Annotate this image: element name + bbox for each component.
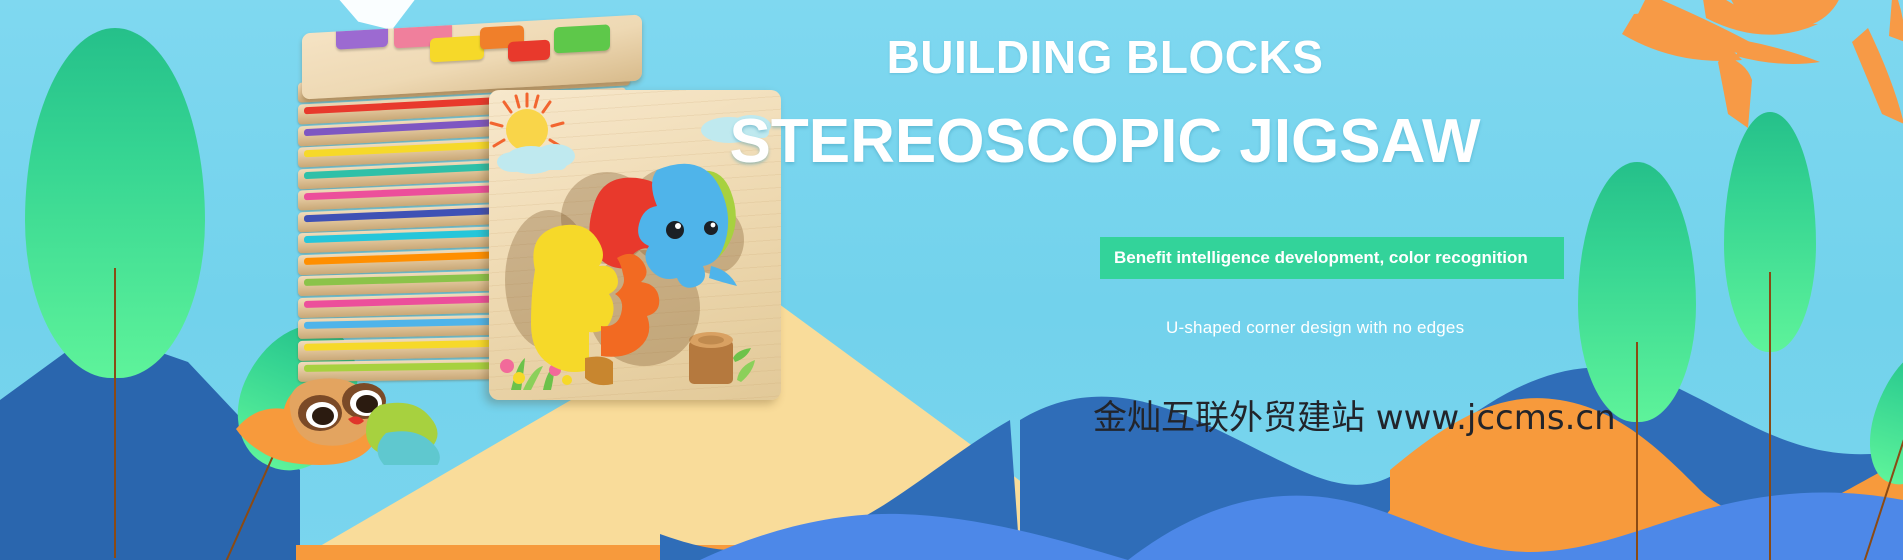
headline-secondary: STEREOSCOPIC JIGSAW: [729, 106, 1480, 177]
headline-primary: BUILDING BLOCKS: [887, 30, 1324, 84]
feature-badge: Benefit intelligence development, color …: [1100, 237, 1564, 279]
copy-block: BUILDING BLOCKS STEREOSCOPIC JIGSAW Bene…: [0, 0, 1903, 560]
promo-banner: BUILDING BLOCKS STEREOSCOPIC JIGSAW Bene…: [0, 0, 1903, 560]
feature-badge-text: Benefit intelligence development, color …: [1100, 248, 1528, 268]
brand-watermark: 金灿互联外贸建站 www.jccms.cn: [1093, 390, 1616, 439]
feature-subline: U-shaped corner design with no edges: [1166, 318, 1464, 338]
